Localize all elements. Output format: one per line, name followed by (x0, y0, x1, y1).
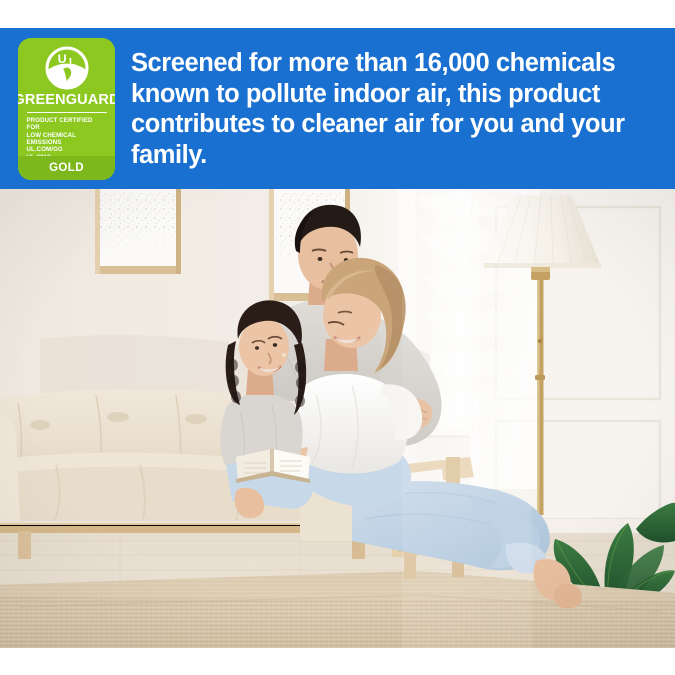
greenguard-wordmark: GREENGUARD (18, 93, 115, 108)
lifestyle-photo: Family of three relaxing on a cream tuft… (0, 189, 675, 648)
badge-fine-print: PRODUCT CERTIFIED FOR LOW CHEMICAL EMISS… (27, 117, 107, 161)
product-feature-image: Screened for more than 16,000 chemicals … (0, 0, 675, 675)
badge-tier-band: GOLD (18, 156, 115, 180)
banner-headline: Screened for more than 16,000 chemicals … (131, 48, 651, 170)
badge-tier-label: GOLD (49, 162, 84, 174)
svg-text:L: L (68, 57, 75, 69)
greenguard-gold-badge: U L GREENGUARD PRODUCT CERTIFIED FOR LOW… (18, 38, 115, 180)
svg-text:U: U (57, 52, 66, 66)
badge-divider (27, 112, 107, 114)
ul-leaf-icon: U L (44, 45, 90, 91)
